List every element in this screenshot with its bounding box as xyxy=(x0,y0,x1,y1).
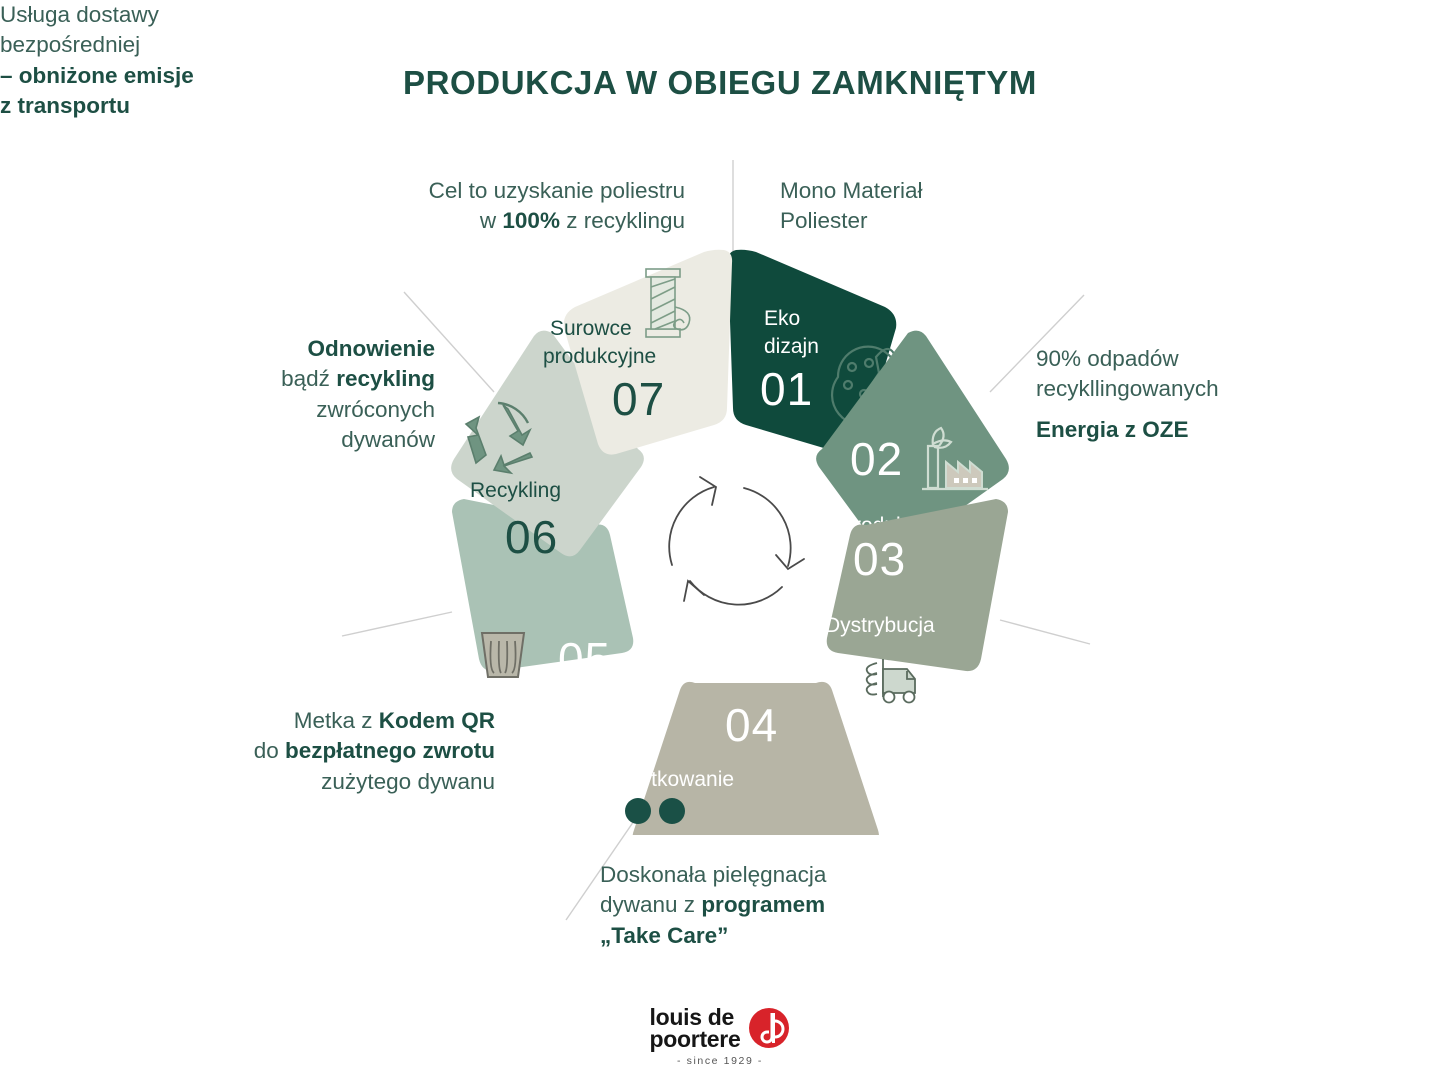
logo-line1: louis de xyxy=(650,1006,741,1028)
annotation-care-line1: Doskonała pielęgnacja xyxy=(600,860,930,890)
annotation-qr-l1-plain: Metka z xyxy=(294,708,379,733)
basket-icon xyxy=(482,633,524,677)
segment-03-number: 03 xyxy=(853,533,906,585)
annotation-mono-material: Mono Materiał Poliester xyxy=(780,176,1060,237)
annotation-delivery: Usługa dostawy bezpośredniej – obniżone … xyxy=(0,0,194,122)
logo-monogram-icon xyxy=(748,1007,790,1049)
annotation-qr-l3-plain: zużytego dywanu xyxy=(185,767,495,797)
logo-wordmark: louis de poortere xyxy=(650,1006,741,1050)
annotation-delivery-bold1: – obniżone emisje xyxy=(0,63,194,88)
annotation-delivery-line2: bezpośredniej xyxy=(0,30,194,60)
annotation-waste-line2: recykllingowanych xyxy=(1036,374,1306,404)
annotation-mono-line2: Poliester xyxy=(780,206,1060,236)
annotation-goal-l2-plain-a: w xyxy=(480,208,503,233)
annotation-goal-l2-plain-b: z recyklingu xyxy=(560,208,685,233)
annotation-delivery-line1: Usługa dostawy xyxy=(0,0,194,30)
annotation-goal: Cel to uzyskanie poliestru w 100% z recy… xyxy=(330,176,685,237)
segment-01-number: 01 xyxy=(760,363,813,415)
segment-06-number: 06 xyxy=(505,511,558,563)
annotation-renewal-l1-bold: Odnowienie xyxy=(307,336,435,361)
annotation-qr-l1-bold: Kodem QR xyxy=(379,708,495,733)
annotation-qr-label: Metka z Kodem QR do bezpłatnego zwrotu z… xyxy=(185,706,495,797)
annotation-care-line2-plain: dywanu z xyxy=(600,892,701,917)
segment-05-label-line1: Bezpłatny xyxy=(516,703,609,726)
brand-logo: louis de poortere - since 1929 - xyxy=(0,1006,1440,1067)
annotation-waste-line1: 90% odpadów xyxy=(1036,344,1306,374)
annotation-goal-l1: Cel to uzyskanie poliestru xyxy=(330,176,685,206)
segment-02-number: 02 xyxy=(850,433,903,485)
wheel-segment-03[interactable]: 03 Dystrybucja xyxy=(825,499,1008,703)
page-title: PRODUKCJA W OBIEGU ZAMKNIĘTYM xyxy=(0,64,1440,102)
annotation-waste: 90% odpadów recykllingowanych Energia z … xyxy=(1036,344,1306,445)
circular-cycle-arrows-icon xyxy=(669,477,804,605)
segment-01-label-line2: dizajn xyxy=(764,335,819,358)
wheel-segment-04[interactable]: 04 Użytkowanie xyxy=(615,682,879,835)
segment-05-number: 05 xyxy=(558,633,611,685)
annotation-qr-l2-plain: do xyxy=(254,738,285,763)
segment-04-label-line1: Użytkowanie xyxy=(615,768,734,791)
annotation-goal-l2-bold: 100% xyxy=(502,208,560,233)
annotation-renewal-l2-plain: bądź xyxy=(281,366,336,391)
annotation-care-line3-bold: „Take Care” xyxy=(600,923,728,948)
annotation-take-care: Doskonała pielęgnacja dywanu z programem… xyxy=(600,860,930,951)
segment-07-number: 07 xyxy=(612,373,665,425)
delivery-truck-icon xyxy=(867,659,915,703)
segment-03-label-line1: Dystrybucja xyxy=(825,614,935,637)
annotation-waste-bold: Energia z OZE xyxy=(1036,417,1189,442)
segment-07-label-line2: produkcyjne xyxy=(543,345,656,368)
segment-01-label-line1: Eko xyxy=(764,307,800,330)
annotation-delivery-bold2: z transportu xyxy=(0,93,130,118)
segment-04-number: 04 xyxy=(725,699,778,751)
annotation-renewal-l2-bold: recykling xyxy=(336,366,435,391)
annotation-renewal-l4-plain: dywanów xyxy=(190,425,435,455)
segment-05-label-line2: Zwrot xyxy=(516,729,569,752)
annotation-care-line2-bold: programem xyxy=(701,892,825,917)
annotation-renewal-l3-plain: zwróconych xyxy=(190,395,435,425)
annotation-qr-l2-bold: bezpłatnego zwrotu xyxy=(285,738,495,763)
logo-line2: poortere xyxy=(650,1028,741,1050)
segment-06-label-line1: Recykling xyxy=(470,479,561,502)
logo-tagline: - since 1929 - xyxy=(0,1055,1440,1067)
circular-process-wheel: Eko dizajn 01 02 Produkcja ekologiczna xyxy=(430,235,1030,835)
annotation-mono-line1: Mono Materiał xyxy=(780,176,1060,206)
segment-07-label-line1: Surowce xyxy=(550,317,632,340)
annotation-renewal: Odnowienie bądź recykling zwróconych dyw… xyxy=(190,334,435,456)
